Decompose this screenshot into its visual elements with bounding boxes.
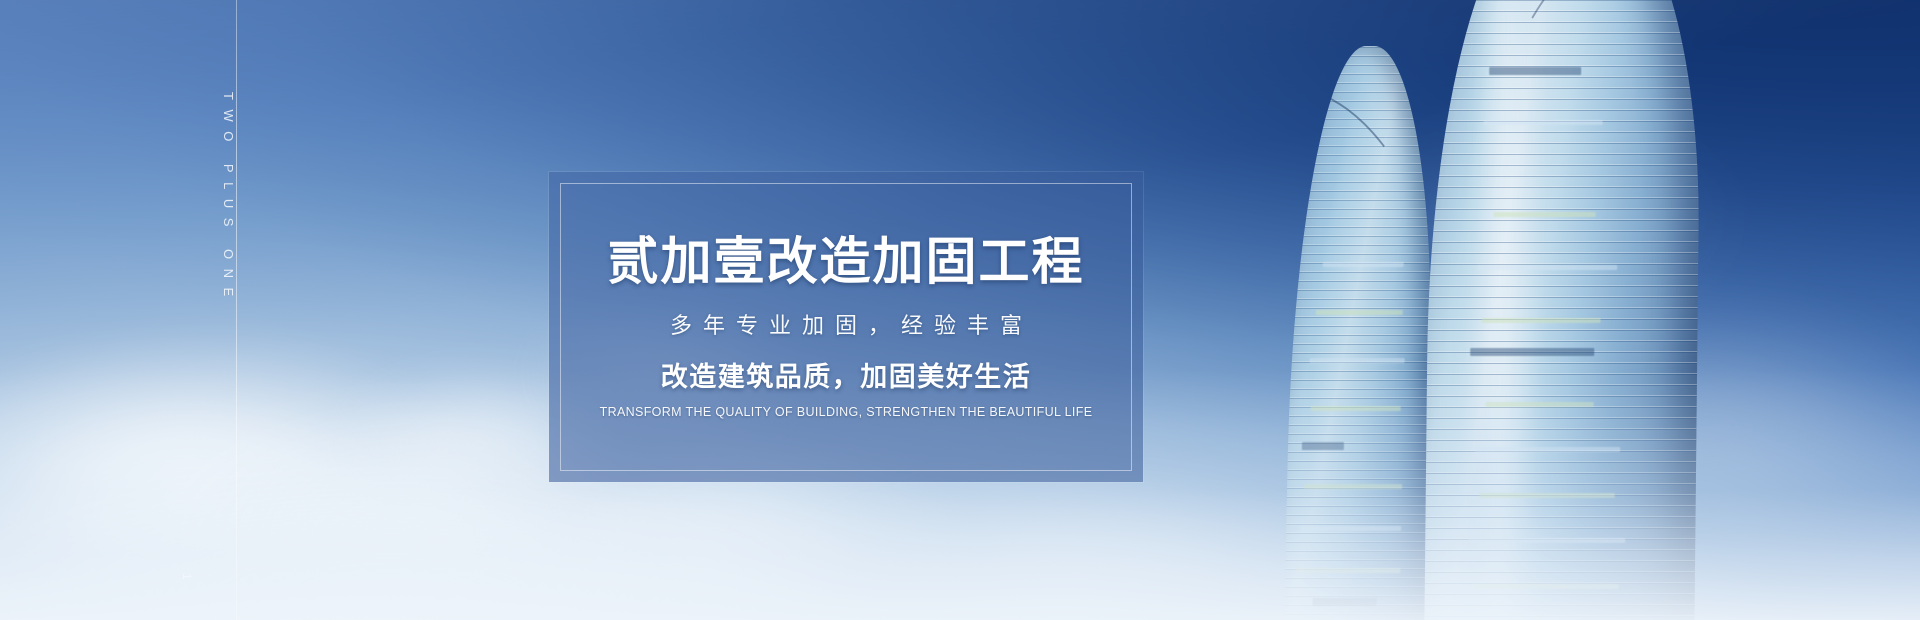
- hero-subtitle: 多年专业加固，经验丰富: [659, 315, 1033, 337]
- hero-tagline-english: TRANSFORM THE QUALITY OF BUILDING, STREN…: [600, 406, 1093, 419]
- tower-window-strip: [1316, 310, 1403, 315]
- hero-title: 贰加壹改造加固工程: [607, 236, 1084, 287]
- tower-window-strip: [1309, 358, 1404, 363]
- hero-text-panel: 贰加壹改造加固工程 多年专业加固，经验丰富 改造建筑品质，加固美好生活 TRAN…: [549, 172, 1143, 482]
- tower-window-strip: [1484, 120, 1603, 125]
- tower-window-strip: [1482, 318, 1601, 323]
- vertical-slide-mark: 1: [180, 573, 194, 581]
- panel-content: 贰加壹改造加固工程 多年专业加固，经验丰富 改造建筑品质，加固美好生活 TRAN…: [549, 172, 1143, 482]
- tower-window-strip: [1477, 265, 1617, 270]
- tower-window-strip: [1322, 262, 1403, 267]
- tower-window-strip: [1490, 67, 1582, 75]
- tower-window-strip: [1470, 348, 1594, 356]
- hero-banner: TWO PLUS ONE 1 贰加壹改造加固工程 多年专业加固，经验丰富 改造建…: [0, 0, 1920, 620]
- vertical-brand-label: TWO PLUS ONE: [221, 92, 236, 306]
- tower-window-strip: [1493, 212, 1596, 217]
- vertical-divider-line: [236, 0, 237, 620]
- hero-slogan: 改造建筑品质，加固美好生活: [661, 364, 1032, 391]
